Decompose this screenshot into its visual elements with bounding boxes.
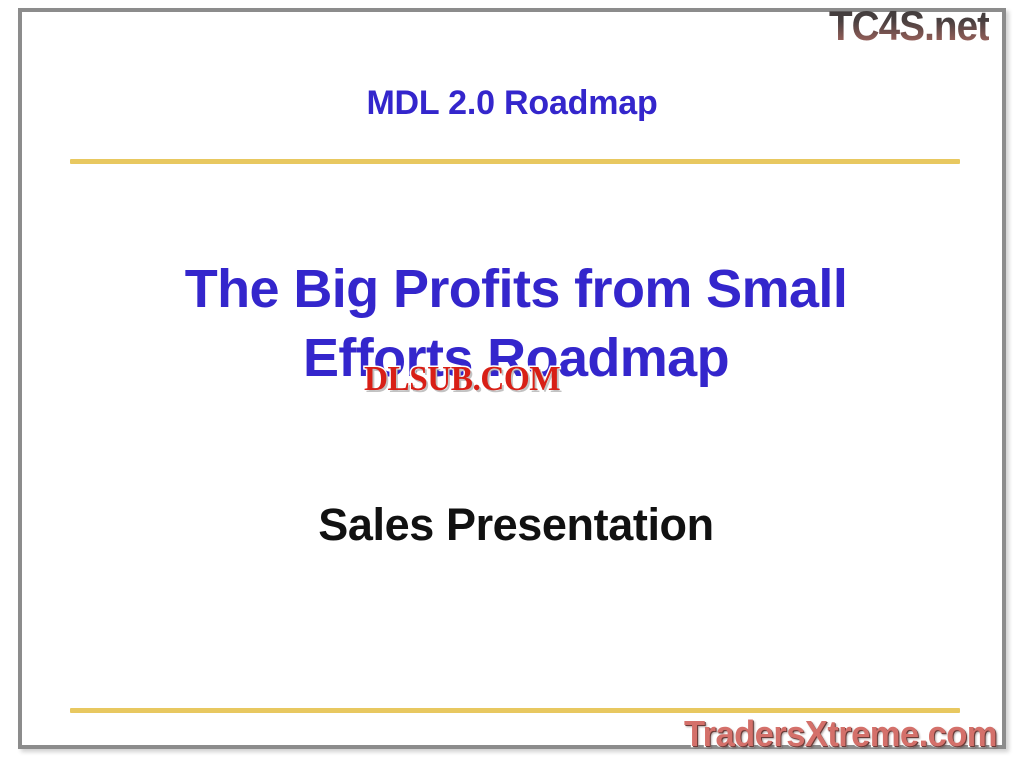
- page-title: MDL 2.0 Roadmap: [22, 84, 1002, 123]
- slide-main-heading: The Big Profits from Small Efforts Roadm…: [132, 255, 900, 393]
- divider-top: [70, 159, 960, 164]
- slide-frame: MDL 2.0 Roadmap The Big Profits from Sma…: [18, 8, 1006, 749]
- heading-line-1: The Big Profits from Small: [132, 255, 900, 324]
- slide-viewer: MDL 2.0 Roadmap The Big Profits from Sma…: [0, 0, 1024, 768]
- slide-subtitle: Sales Presentation: [132, 499, 900, 551]
- heading-line-2: Efforts Roadmap: [132, 324, 900, 393]
- divider-bottom: [70, 708, 960, 713]
